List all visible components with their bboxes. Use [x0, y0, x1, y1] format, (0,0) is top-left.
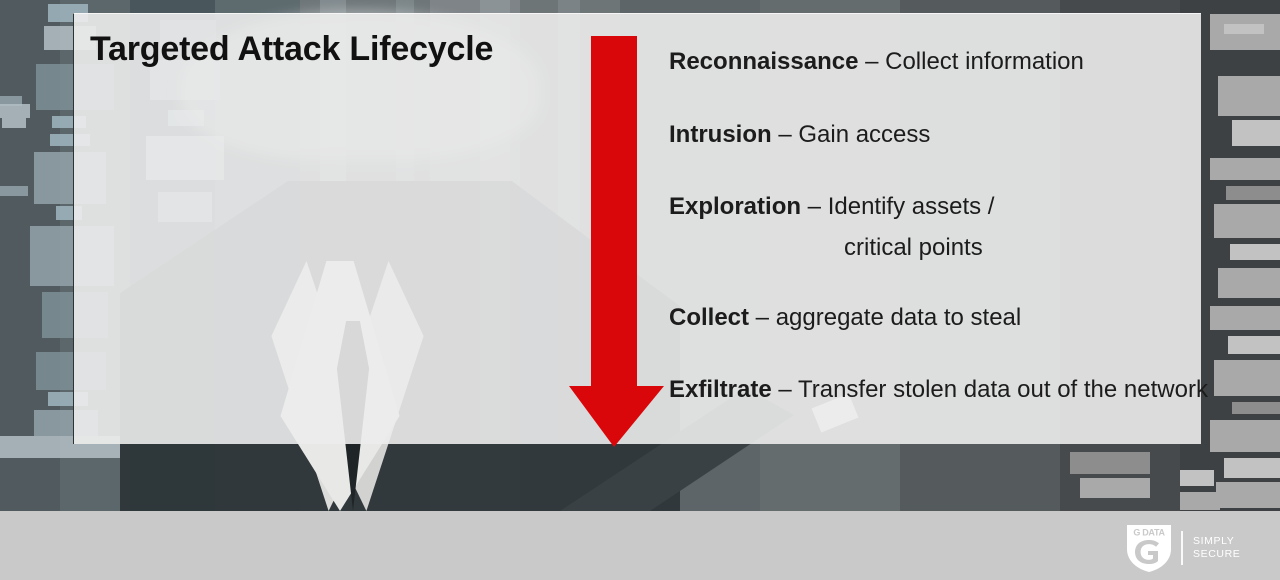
logo-divider [1181, 531, 1183, 565]
gdata-logo: G DATA SIMPLY SECURE [1125, 519, 1275, 577]
page-title: Targeted Attack Lifecycle [90, 30, 493, 69]
stage-description: Collect information [885, 48, 1084, 75]
stage-description: Gain access [798, 121, 930, 148]
stage-separator: – [858, 48, 885, 75]
list-item: Reconnaissance – Collect information [669, 49, 1084, 75]
list-item: Collect – aggregate data to steal [669, 305, 1021, 331]
stage-name: Reconnaissance [669, 48, 858, 75]
stage-separator: – [772, 376, 798, 403]
logo-tagline: SIMPLY SECURE [1193, 535, 1240, 561]
stage-description-line2: critical points [844, 234, 983, 262]
stage-description: aggregate data to steal [776, 304, 1022, 331]
list-item: Exfiltrate – Transfer stolen data out of… [669, 377, 1208, 403]
gdata-shield-icon: G DATA [1125, 523, 1173, 573]
logo-tagline-line1: SIMPLY [1193, 535, 1240, 548]
red-down-arrow [569, 36, 664, 447]
stage-name: Collect [669, 304, 749, 331]
svg-text:G DATA: G DATA [1133, 528, 1165, 538]
stage-name: Exploration [669, 193, 801, 220]
content-panel: Targeted Attack Lifecycle Reconnaissance… [73, 13, 1201, 444]
stage-separator: – [801, 193, 828, 220]
list-item: Intrusion – Gain access [669, 122, 930, 148]
stage-separator: – [749, 304, 776, 331]
slide: Targeted Attack Lifecycle Reconnaissance… [0, 0, 1280, 580]
arrow-shape [569, 36, 664, 447]
stage-separator: – [772, 121, 799, 148]
logo-tagline-line2: SECURE [1193, 548, 1240, 561]
list-item: Exploration – Identify assets / [669, 194, 994, 220]
stage-description: Transfer stolen data out of the network [798, 376, 1208, 403]
stage-name: Exfiltrate [669, 376, 772, 403]
footer-bar: G DATA SIMPLY SECURE [0, 511, 1280, 580]
stage-name: Intrusion [669, 121, 772, 148]
stage-description: Identify assets / [828, 193, 995, 220]
